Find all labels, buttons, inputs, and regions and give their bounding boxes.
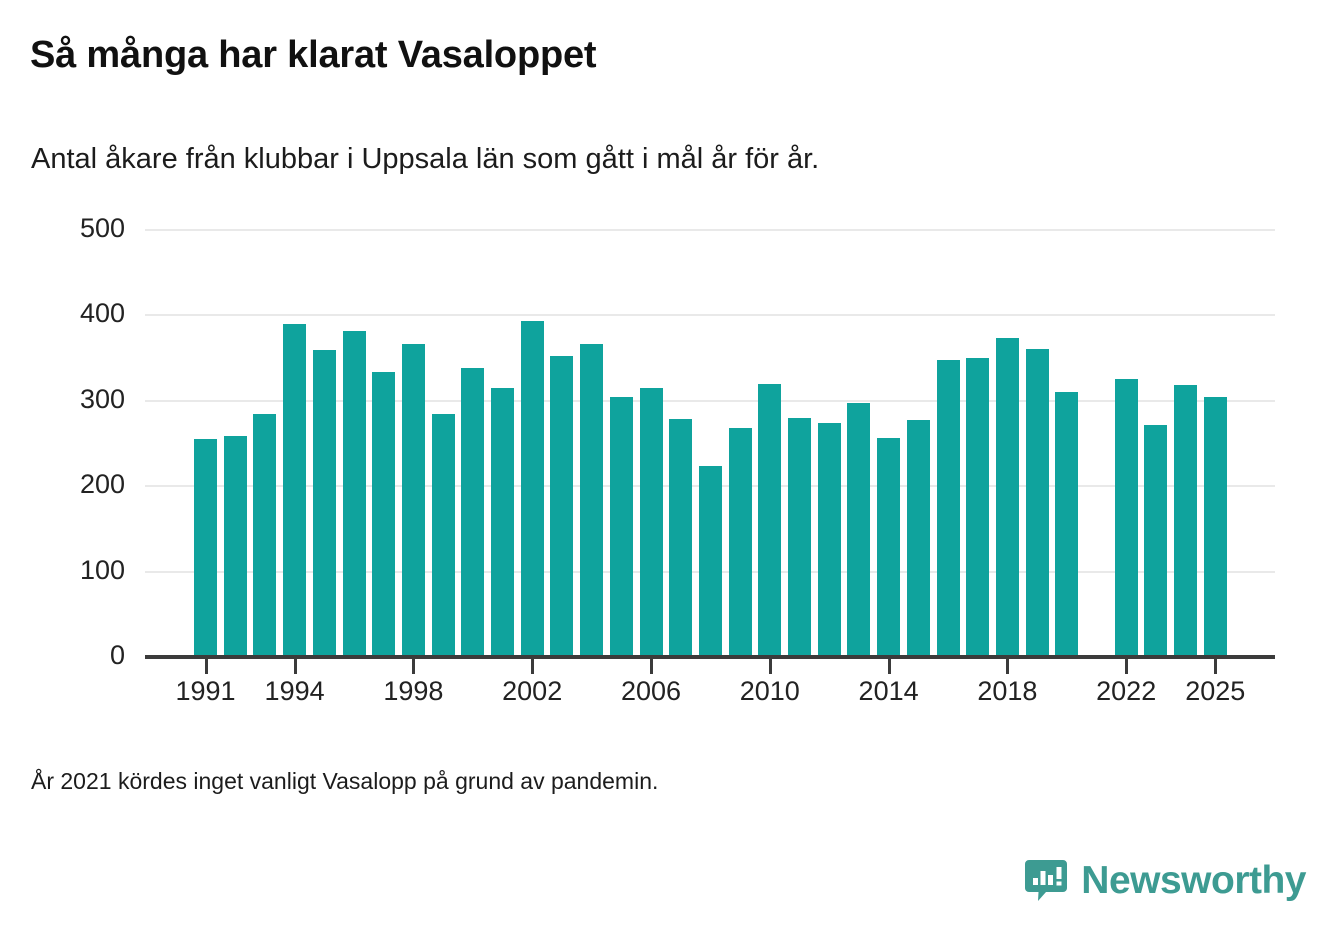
bar-2003[interactable] <box>550 356 573 657</box>
bar-2016[interactable] <box>937 360 960 657</box>
gridline <box>145 229 1275 231</box>
bar-2002[interactable] <box>521 321 544 657</box>
bar-2022[interactable] <box>1115 379 1138 657</box>
bar-2025[interactable] <box>1204 397 1227 657</box>
x-axis-tick-label: 2025 <box>1155 676 1275 707</box>
bar-chart-plot: 0100200300400500 19911994199820022006201… <box>0 0 1340 940</box>
bar-2007[interactable] <box>669 419 692 657</box>
x-axis-tick-label: 2006 <box>591 676 711 707</box>
y-axis-tick-label: 300 <box>5 386 125 413</box>
bar-2005[interactable] <box>610 397 633 657</box>
bar-2012[interactable] <box>818 423 841 657</box>
y-axis-tick-label: 200 <box>5 471 125 498</box>
y-axis-tick-label: 100 <box>5 557 125 584</box>
x-axis-tick <box>650 659 653 674</box>
bar-1996[interactable] <box>343 331 366 657</box>
bar-1995[interactable] <box>313 350 336 657</box>
bar-2010[interactable] <box>758 384 781 657</box>
x-axis-tick <box>1125 659 1128 674</box>
chart-page: Så många har klarat Vasaloppet Antal åka… <box>0 0 1340 940</box>
x-axis-tick <box>1006 659 1009 674</box>
bar-1994[interactable] <box>283 324 306 657</box>
bar-2019[interactable] <box>1026 349 1049 657</box>
bar-2017[interactable] <box>966 358 989 657</box>
bar-2014[interactable] <box>877 438 900 657</box>
bar-2020[interactable] <box>1055 392 1078 657</box>
brand-name: Newsworthy <box>1081 861 1306 900</box>
bar-2011[interactable] <box>788 418 811 657</box>
bar-2000[interactable] <box>461 368 484 657</box>
x-axis-tick-label: 1994 <box>235 676 355 707</box>
x-axis-tick <box>888 659 891 674</box>
bar-2009[interactable] <box>729 428 752 657</box>
bar-1992[interactable] <box>224 436 247 657</box>
bar-2023[interactable] <box>1144 425 1167 657</box>
bar-2015[interactable] <box>907 420 930 657</box>
y-axis-tick-label: 500 <box>5 215 125 242</box>
x-axis-tick <box>412 659 415 674</box>
x-axis-tick-label: 2010 <box>710 676 830 707</box>
x-axis-tick-label: 2014 <box>829 676 949 707</box>
bar-1999[interactable] <box>432 414 455 657</box>
bar-1998[interactable] <box>402 344 425 657</box>
gridline <box>145 314 1275 316</box>
bar-2024[interactable] <box>1174 385 1197 657</box>
newsworthy-logo: Newsworthy <box>1024 858 1306 902</box>
bar-2013[interactable] <box>847 403 870 657</box>
y-axis-tick-label: 0 <box>5 642 125 669</box>
x-axis-tick-label: 1998 <box>353 676 473 707</box>
x-axis-tick <box>294 659 297 674</box>
x-axis-tick <box>205 659 208 674</box>
x-axis-tick <box>769 659 772 674</box>
bar-2006[interactable] <box>640 388 663 657</box>
footnote: År 2021 kördes inget vanligt Vasalopp på… <box>31 768 658 795</box>
bar-2018[interactable] <box>996 338 1019 657</box>
x-axis-tick-label: 2002 <box>472 676 592 707</box>
bar-2008[interactable] <box>699 466 722 657</box>
bar-2004[interactable] <box>580 344 603 657</box>
x-axis-tick <box>531 659 534 674</box>
bar-1997[interactable] <box>372 372 395 657</box>
y-axis-tick-label: 400 <box>5 300 125 327</box>
bar-1991[interactable] <box>194 439 217 657</box>
x-axis-tick <box>1214 659 1217 674</box>
x-axis-line <box>145 655 1275 659</box>
bar-2001[interactable] <box>491 388 514 657</box>
bar-1993[interactable] <box>253 414 276 657</box>
newsworthy-bubble-chart-icon <box>1024 858 1068 902</box>
x-axis-tick-label: 2018 <box>947 676 1067 707</box>
